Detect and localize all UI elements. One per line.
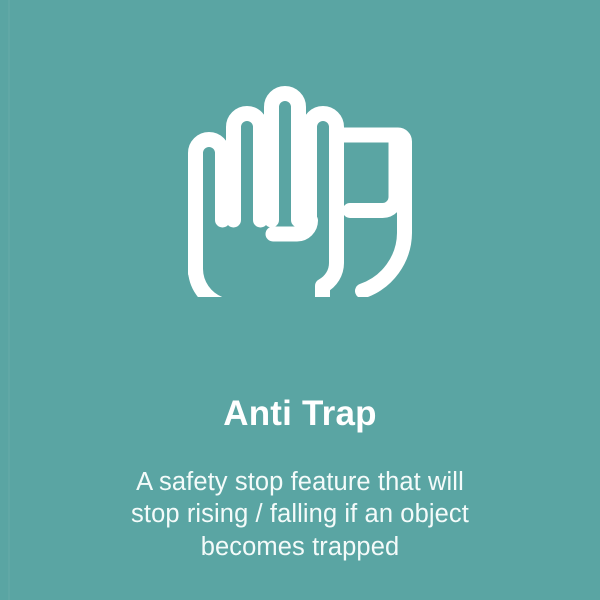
anti-trap-hand-icon — [187, 85, 413, 297]
feature-description: A safety stop feature that will stop ris… — [40, 466, 560, 565]
description-line-3: becomes trapped — [40, 531, 560, 564]
hand-wrist-right-edge — [323, 211, 337, 297]
hand-ring-finger — [234, 113, 261, 220]
page-title: Anti Trap — [0, 394, 600, 434]
hand-pinky-and-palm-edge — [196, 139, 223, 273]
description-line-2: stop rising / falling if an object — [40, 498, 560, 531]
hand-wrist-left-curve — [196, 269, 220, 297]
icon-container — [0, 78, 600, 303]
description-line-1: A safety stop feature that will — [40, 466, 560, 499]
hand-middle-finger — [272, 93, 299, 220]
anti-trap-feature-card: Anti Trap A safety stop feature that wil… — [0, 0, 600, 600]
mirror-hand-inner-finger — [350, 141, 396, 211]
